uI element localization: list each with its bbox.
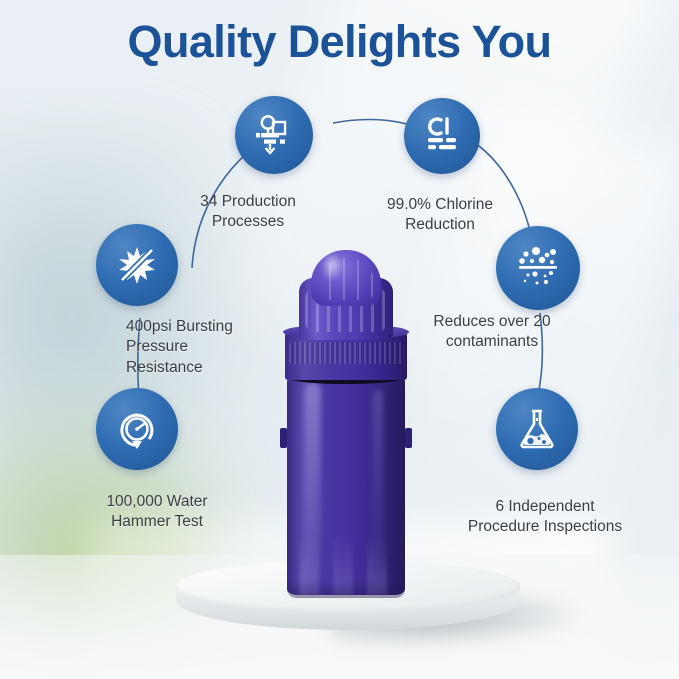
filter-side-tab <box>280 428 287 448</box>
filter-base-edge <box>287 580 405 598</box>
lab-flask-icon <box>513 405 561 453</box>
feature-icon-production[interactable] <box>235 96 313 174</box>
chlorine-reduction-icon <box>420 114 464 158</box>
feature-label-contaminants-line2: contaminants <box>404 332 580 352</box>
feature-label-hammer-line1: 100,000 Water <box>62 492 252 512</box>
factory-process-icon <box>252 113 296 157</box>
feature-label-contaminants: Reduces over 20 contaminants <box>404 312 580 353</box>
feature-label-production-line2: Processes <box>158 212 338 232</box>
feature-label-inspections: 6 Independent Procedure Inspections <box>442 497 648 538</box>
feature-label-chlorine-line2: Reduction <box>352 215 528 235</box>
filter-collar-vents <box>289 342 403 364</box>
filter-body-highlight <box>305 382 321 582</box>
feature-icon-water-hammer[interactable] <box>96 388 178 470</box>
page-title: Quality Delights You <box>0 16 679 68</box>
feature-icon-inspections[interactable] <box>496 388 578 470</box>
feature-label-inspections-line1: 6 Independent <box>442 497 648 517</box>
pressure-gauge-icon <box>113 405 161 453</box>
particle-filter-icon <box>513 243 563 293</box>
feature-icon-contaminants[interactable] <box>496 226 580 310</box>
feature-label-contaminants-line1: Reduces over 20 <box>404 312 580 332</box>
water-filter-cartridge <box>265 250 425 595</box>
feature-label-water-hammer: 100,000 Water Hammer Test <box>62 492 252 533</box>
feature-label-production: 34 Production Processes <box>158 192 338 233</box>
feature-label-chlorine: 99.0% Chlorine Reduction <box>352 195 528 236</box>
feature-label-production-line1: 34 Production <box>158 192 338 212</box>
filter-body-highlight-secondary <box>373 390 383 570</box>
burst-resistance-icon <box>113 241 161 289</box>
feature-label-hammer-line2: Hammer Test <box>62 512 252 532</box>
filter-dome-highlight <box>321 255 343 281</box>
feature-icon-burst-pressure[interactable] <box>96 224 178 306</box>
feature-label-inspections-line2: Procedure Inspections <box>442 517 648 537</box>
feature-icon-chlorine[interactable] <box>404 98 480 174</box>
infographic-canvas: Quality Delights You 34 Production Proce… <box>0 0 679 679</box>
filter-side-tab <box>405 428 412 448</box>
feature-label-chlorine-line1: 99.0% Chlorine <box>352 195 528 215</box>
